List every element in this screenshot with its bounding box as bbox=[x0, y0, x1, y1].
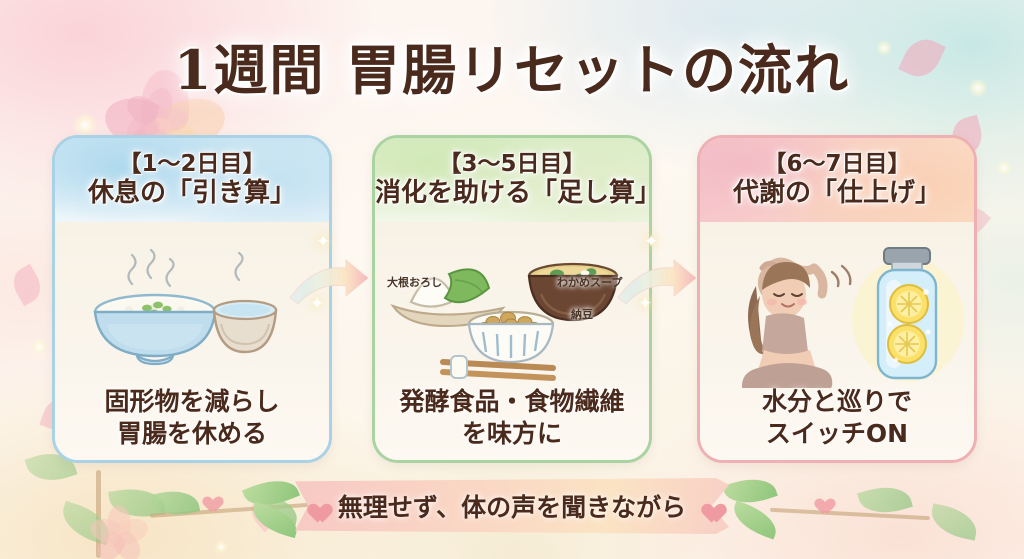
lemon-slice-icon bbox=[888, 325, 926, 363]
card-body: 水分と巡りで スイッチON bbox=[700, 222, 974, 460]
sparkle-icon: ✦ bbox=[310, 294, 324, 314]
card-day-6-7[interactable]: 【6〜7日目】 代謝の「仕上げ」 bbox=[697, 135, 977, 463]
fermented-foods-illustration bbox=[375, 228, 649, 408]
rice-porridge-bowl-icon bbox=[95, 295, 215, 364]
card-subtitle: 消化を助ける「足し算」 bbox=[375, 178, 649, 210]
sparkle-icon: ✦ bbox=[638, 294, 652, 314]
card-header: 【1〜2日目】 休息の「引き算」 bbox=[55, 138, 329, 222]
ribbon-text: 無理せず、体の声を聞きながら bbox=[338, 488, 686, 524]
tea-cup-icon bbox=[214, 301, 276, 352]
card-illustration: 大根おろし わかめスープ 納豆 bbox=[375, 228, 649, 408]
card-caption-line-1: 発酵食品・食物繊維 bbox=[375, 386, 649, 418]
steam-icon bbox=[129, 250, 243, 286]
card-caption: 固形物を減らし 胃腸を休める bbox=[55, 386, 329, 450]
infographic-canvas: 1週間 胃腸リセットの流れ 【1〜2日目】 休息の「引き算」 bbox=[0, 0, 1024, 559]
card-caption-line-1: 水分と巡りで bbox=[700, 386, 974, 418]
card-day-range: 【3〜5日目】 bbox=[438, 150, 585, 178]
card-day-3-5[interactable]: 【3〜5日目】 消化を助ける「足し算」 bbox=[372, 135, 652, 463]
card-caption-line-2: スイッチON bbox=[700, 418, 974, 450]
heart-icon bbox=[200, 490, 218, 506]
curved-arrow-right-icon bbox=[288, 246, 372, 316]
stretching-woman-icon bbox=[742, 262, 850, 388]
lemon-water-bottle-icon bbox=[852, 248, 964, 382]
card-subtitle: 代謝の「仕上げ」 bbox=[733, 178, 941, 210]
food-label-daikon: 大根おろし bbox=[387, 274, 442, 290]
natto-bowl-icon bbox=[469, 312, 553, 362]
food-label-wakame-soup: わかめスープ bbox=[557, 274, 622, 290]
heart-icon bbox=[304, 496, 326, 516]
leaf-icon bbox=[249, 502, 302, 538]
motion-lines-icon bbox=[832, 266, 850, 286]
sparkle-dot-icon bbox=[996, 160, 1012, 176]
heart-icon bbox=[812, 492, 830, 508]
sparkle-icon: ✦ bbox=[316, 232, 330, 252]
food-label-natto: 納豆 bbox=[571, 306, 593, 322]
sparkle-dot-icon bbox=[214, 540, 228, 554]
card-day-range: 【1〜2日目】 bbox=[118, 150, 265, 178]
card-illustration bbox=[700, 228, 974, 388]
sakura-blossom-small bbox=[102, 518, 136, 552]
sparkle-icon: ✦ bbox=[644, 232, 658, 252]
leaf-icon bbox=[728, 501, 781, 540]
card-day-range: 【6〜7日目】 bbox=[763, 150, 910, 178]
sparkle-dot-icon bbox=[30, 338, 48, 356]
arrow-1: ✦ ✦ bbox=[288, 246, 372, 316]
heart-icon bbox=[698, 496, 720, 516]
card-caption: 水分と巡りで スイッチON bbox=[700, 386, 974, 450]
stretch-and-hydration-illustration bbox=[700, 228, 974, 388]
sakura-blossom-small bbox=[139, 103, 171, 135]
page-title: 1週間 胃腸リセットの流れ bbox=[0, 26, 1024, 105]
lemon-slice-icon bbox=[890, 285, 928, 323]
card-subtitle: 休息の「引き算」 bbox=[88, 178, 296, 210]
curved-arrow-right-icon bbox=[616, 246, 700, 316]
card-body: 大根おろし わかめスープ 納豆 発酵食品・食物繊維 を味方に bbox=[375, 222, 649, 460]
card-header: 【3〜5日目】 消化を助ける「足し算」 bbox=[375, 138, 649, 222]
card-caption-line-2: 胃腸を休める bbox=[55, 418, 329, 450]
card-caption-line-2: を味方に bbox=[375, 418, 649, 450]
arrow-2: ✦ ✦ bbox=[616, 246, 700, 316]
card-caption: 発酵食品・食物繊維 を味方に bbox=[375, 386, 649, 450]
card-caption-line-1: 固形物を減らし bbox=[55, 386, 329, 418]
footer-ribbon: 無理せず、体の声を聞きながら bbox=[235, 470, 789, 544]
card-header: 【6〜7日目】 代謝の「仕上げ」 bbox=[700, 138, 974, 222]
ribbon-content: 無理せず、体の声を聞きながら bbox=[295, 478, 729, 534]
